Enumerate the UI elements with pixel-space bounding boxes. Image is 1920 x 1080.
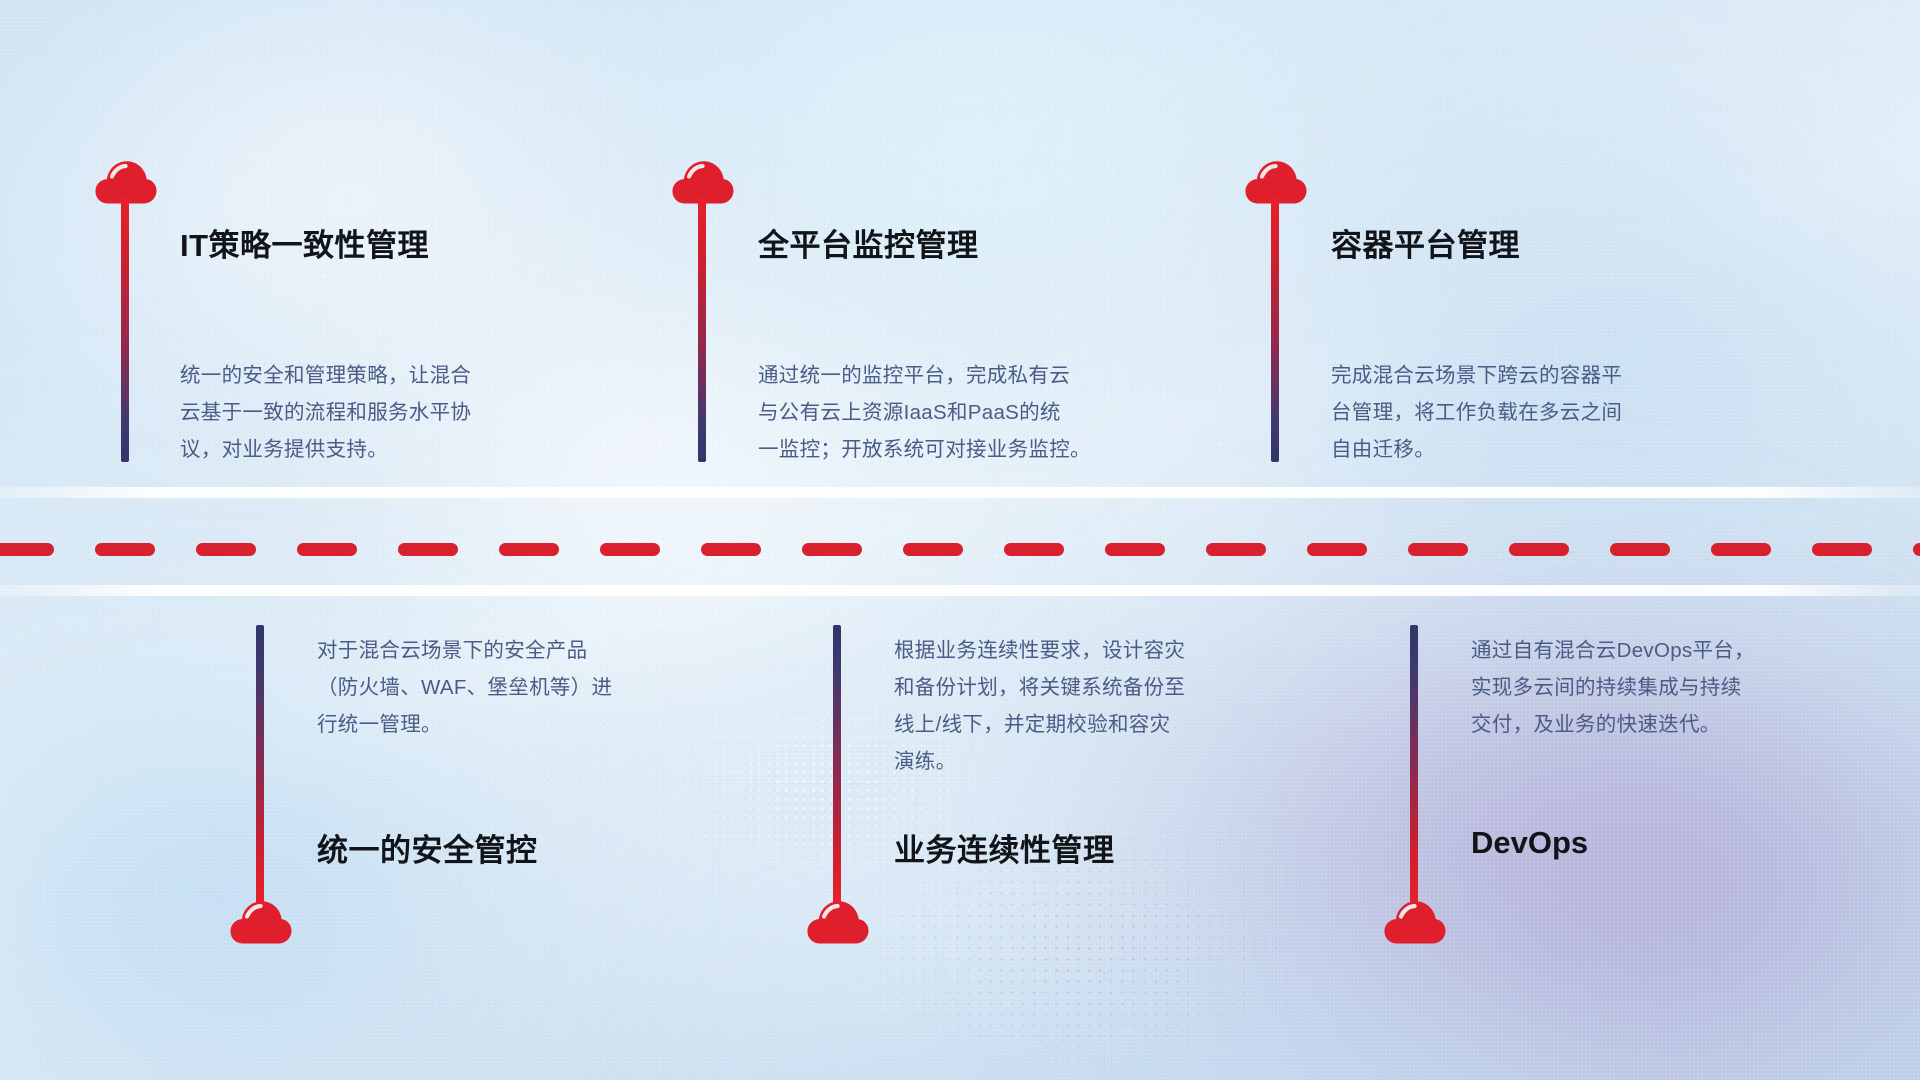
connector-line (256, 625, 264, 905)
card-title: 容器平台管理 (1331, 220, 1520, 265)
divider-dash (398, 543, 458, 556)
connector-line (833, 625, 841, 905)
divider-dash (1004, 543, 1064, 556)
divider-bar-bottom (0, 585, 1920, 596)
card-title: 全平台监控管理 (758, 220, 979, 265)
divider-dash (196, 543, 256, 556)
cloud-icon (807, 900, 869, 944)
cloud-icon (230, 900, 292, 944)
desc-line: 通过自有混合云DevOps平台， (1471, 632, 1920, 669)
divider-dash (1408, 543, 1468, 556)
divider-dash (95, 543, 155, 556)
desc-line: 通过统一的监控平台，完成私有云 (758, 357, 1228, 394)
card-description: 对于混合云场景下的安全产品 （防火墙、WAF、堡垒机等）进 行统一管理。 (317, 632, 787, 743)
cloud-icon (1384, 900, 1446, 944)
divider-dash (1105, 543, 1165, 556)
card-description: 根据业务连续性要求，设计容灾 和备份计划，将关键系统备份至 线上/线下，并定期校… (894, 632, 1364, 780)
desc-line: 自由迁移。 (1331, 431, 1801, 468)
desc-line: 统一的安全和管理策略，让混合 (180, 357, 650, 394)
desc-line: （防火墙、WAF、堡垒机等）进 (317, 669, 787, 706)
connector-line (121, 197, 129, 462)
card-title: IT策略一致性管理 (180, 220, 429, 265)
divider-dash (499, 543, 559, 556)
desc-line: 云基于一致的流程和服务水平协 (180, 394, 650, 431)
card-description: 通过统一的监控平台，完成私有云 与公有云上资源IaaS和PaaS的统 一监控；开… (758, 357, 1228, 468)
divider-dash (1509, 543, 1569, 556)
desc-line: 完成混合云场景下跨云的容器平 (1331, 357, 1801, 394)
divider-dash (1307, 543, 1367, 556)
divider-dash (297, 543, 357, 556)
desc-line: 与公有云上资源IaaS和PaaS的统 (758, 394, 1228, 431)
desc-line: 和备份计划，将关键系统备份至 (894, 669, 1364, 706)
desc-line: 线上/线下，并定期校验和容灾 (894, 706, 1364, 743)
divider-dash (1711, 543, 1771, 556)
divider-dash (1206, 543, 1266, 556)
desc-line: 台管理，将工作负载在多云之间 (1331, 394, 1801, 431)
divider-dashed-line (0, 543, 1920, 557)
card-description: 统一的安全和管理策略，让混合 云基于一致的流程和服务水平协 议，对业务提供支持。 (180, 357, 650, 468)
card-description: 通过自有混合云DevOps平台， 实现多云间的持续集成与持续 交付，及业务的快速… (1471, 632, 1920, 743)
desc-line: 议，对业务提供支持。 (180, 431, 650, 468)
desc-line: 对于混合云场景下的安全产品 (317, 632, 787, 669)
card-title: 统一的安全管控 (317, 825, 538, 870)
divider-dash (1610, 543, 1670, 556)
card-description: 完成混合云场景下跨云的容器平 台管理，将工作负载在多云之间 自由迁移。 (1331, 357, 1801, 468)
desc-line: 一监控；开放系统可对接业务监控。 (758, 431, 1228, 468)
desc-line: 行统一管理。 (317, 706, 787, 743)
connector-line (1410, 625, 1418, 905)
desc-line: 演练。 (894, 743, 1364, 780)
card-title: 业务连续性管理 (894, 825, 1115, 870)
connector-line (698, 197, 706, 462)
divider-dash (1913, 543, 1920, 556)
divider-dash (903, 543, 963, 556)
divider-bar-top (0, 487, 1920, 498)
divider-dash (600, 543, 660, 556)
divider-dash (0, 543, 54, 556)
desc-line: 根据业务连续性要求，设计容灾 (894, 632, 1364, 669)
desc-line: 实现多云间的持续集成与持续 (1471, 669, 1920, 706)
divider-dash (1812, 543, 1872, 556)
divider-dash (802, 543, 862, 556)
divider-dash (701, 543, 761, 556)
card-title: DevOps (1471, 825, 1588, 861)
connector-line (1271, 197, 1279, 462)
desc-line: 交付，及业务的快速迭代。 (1471, 706, 1920, 743)
